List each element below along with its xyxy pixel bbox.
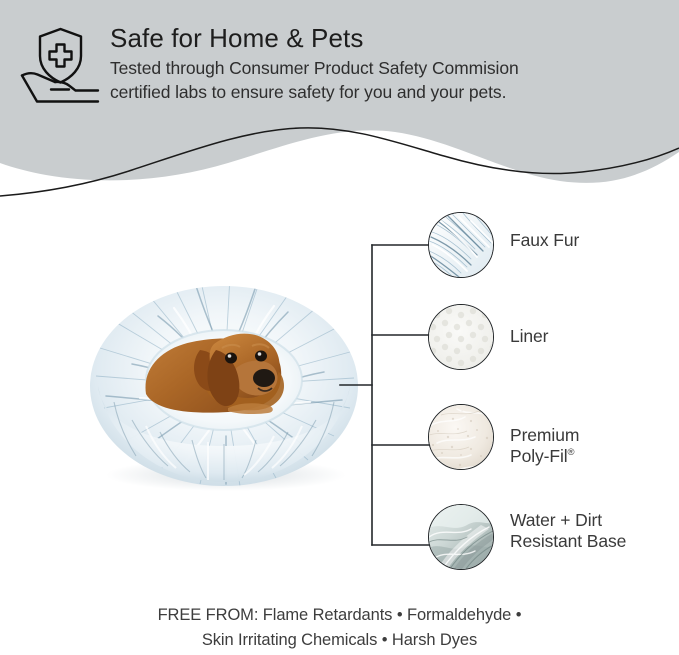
product-infographic: Safe for Home & Pets Tested through Cons… xyxy=(0,0,679,655)
callout-label-liner: Liner xyxy=(510,326,548,347)
callout-label-water-dirt-resistant-base: Water + Dirt Resistant Base xyxy=(510,510,626,552)
free-from-footer: FREE FROM: Flame Retardants • Formaldehy… xyxy=(0,603,679,653)
banner-subtitle: Tested through Consumer Product Safety C… xyxy=(110,57,670,104)
swatch-poly-fil xyxy=(428,404,494,470)
dog-nose xyxy=(253,369,275,387)
water-dirt-base-texture xyxy=(428,504,494,570)
dog-eye-right-highlight xyxy=(258,352,262,356)
faux-fur-texture xyxy=(428,212,494,278)
swatch-water-dirt-resistant-base xyxy=(428,504,494,570)
callout-label-poly-fil-text: Premium Poly-Fil xyxy=(510,425,579,466)
callout-label-poly-fil: Premium Poly-Fil® xyxy=(510,425,579,467)
swatch-liner xyxy=(428,304,494,370)
liner-texture xyxy=(428,304,494,370)
dog-eye-right xyxy=(255,351,267,362)
header-banner: Safe for Home & Pets Tested through Cons… xyxy=(0,0,679,200)
banner-title: Safe for Home & Pets xyxy=(110,22,670,54)
free-from-line-1: FREE FROM: Flame Retardants • Formaldehy… xyxy=(0,603,679,628)
shield-cross-in-hand-icon xyxy=(18,22,102,108)
dog-eye-left-highlight xyxy=(228,354,232,358)
dog-bed-photo xyxy=(88,268,360,500)
banner-subtitle-line-2: certified labs to ensure safety for you … xyxy=(110,82,506,102)
free-from-line-2: Skin Irritating Chemicals • Harsh Dyes xyxy=(0,628,679,653)
banner-subtitle-line-1: Tested through Consumer Product Safety C… xyxy=(110,58,519,78)
callout-label-faux-fur: Faux Fur xyxy=(510,230,579,251)
banner-text-block: Safe for Home & Pets Tested through Cons… xyxy=(110,22,670,104)
registered-trademark-icon: ® xyxy=(568,447,575,458)
swatch-faux-fur xyxy=(428,212,494,278)
poly-fil-texture xyxy=(428,404,494,470)
dog-eye-left xyxy=(225,353,237,364)
